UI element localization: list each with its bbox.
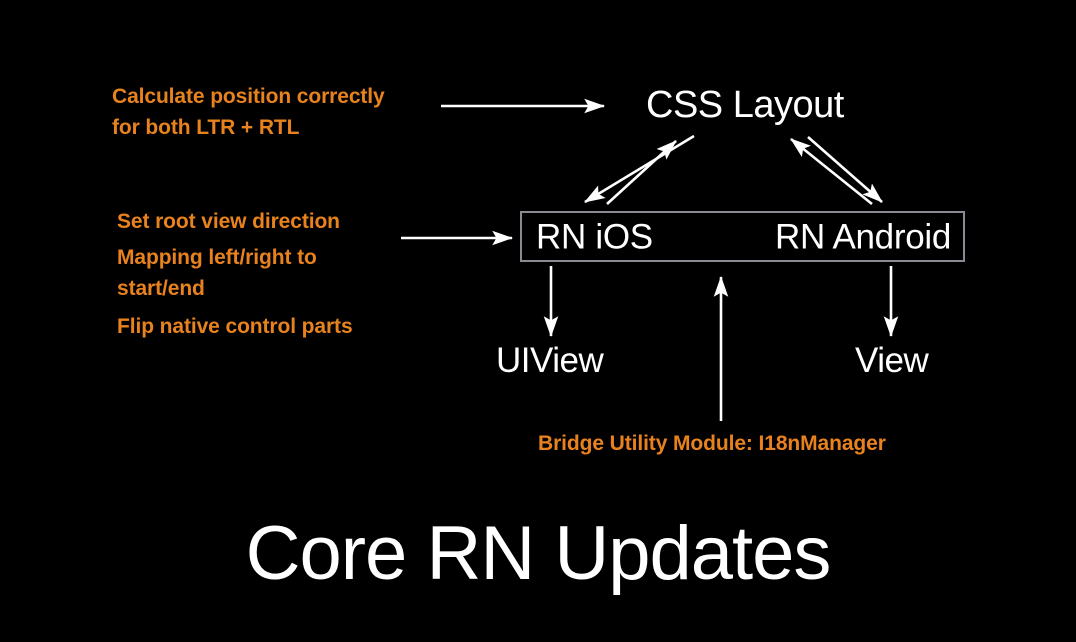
note-calculate-position: Calculate position correctly for both LT… [112,81,385,143]
note-bridge-utility-module: Bridge Utility Module: I18nManager [538,428,886,459]
node-view: View [855,343,928,378]
note-mapping-left-right: Mapping left/right to start/end [117,242,317,304]
note-set-root-view-direction: Set root view direction [117,206,340,237]
arrow-css-layout-to-rn-android [808,137,882,202]
arrow-rn-ios-to-css-layout [607,141,676,204]
node-rn-platform-box: RN iOS RN Android [520,211,965,262]
arrow-rn-android-to-css-layout [791,139,872,204]
node-css-layout: CSS Layout [646,86,844,124]
slide-title: Core RN Updates [0,516,1076,592]
node-rn-ios: RN iOS [536,219,653,254]
node-uiview: UIView [496,343,603,378]
note-flip-native-controls: Flip native control parts [117,311,353,342]
arrow-css-layout-to-rn-ios [585,136,694,202]
slide-canvas: Calculate position correctly for both LT… [0,0,1076,642]
node-rn-android: RN Android [775,219,951,254]
